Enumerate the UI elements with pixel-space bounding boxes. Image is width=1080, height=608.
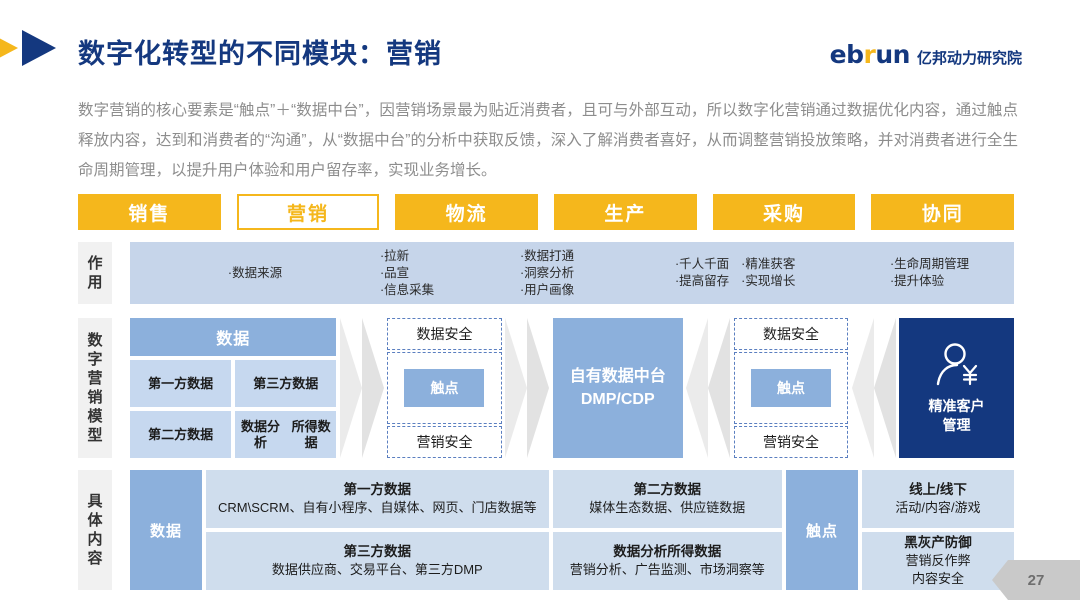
- page-title: 数字化转型的不同模块：营销: [78, 32, 442, 71]
- detail-touch-online-offline: 线上/线下 活动/内容/游戏: [862, 470, 1014, 528]
- row-label-detail: 具 体 内 容: [78, 470, 112, 590]
- chevron-right-1-icon: [336, 318, 387, 458]
- model-cell-third-party: 第三方数据: [235, 360, 336, 407]
- arrow-yellow-icon: [0, 30, 18, 66]
- detail-cell-first-party: 第一方数据 CRM\SCRM、自有小程序、自媒体、网页、门店数据等: [206, 470, 549, 528]
- tab-sales[interactable]: 销售: [78, 194, 221, 230]
- model-right-marketing-security: 营销安全: [734, 426, 849, 458]
- chevron-left-1-icon: [683, 318, 734, 458]
- detail-row-top: 第一方数据 CRM\SCRM、自有小程序、自媒体、网页、门店数据等 第二方数据 …: [206, 470, 782, 528]
- model-data-block: 数据 第一方数据 第三方数据 第二方数据 数据分析 所得数据: [130, 318, 336, 458]
- tab-procurement[interactable]: 采购: [713, 194, 856, 230]
- model-left-touchpoint-wrap: 触点: [387, 352, 502, 424]
- row-label-function: 作 用: [78, 242, 112, 304]
- detail-touchpoint-group: 触点 线上/线下 活动/内容/游戏 黑灰产防御 营销反作弊 内容安全: [786, 470, 1014, 590]
- model-customer-management: 精准客户 管理: [899, 318, 1014, 458]
- slide-root: 数字化转型的不同模块：营销 ebrun 亿邦动力研究院 数字营销的核心要素是“触…: [0, 0, 1080, 608]
- model-right-security-block: 数据安全 触点 营销安全: [734, 318, 849, 458]
- brand-logo: ebrun 亿邦动力研究院: [830, 40, 1022, 69]
- function-col-source: ·数据来源: [130, 265, 380, 282]
- row-label-model: 数 字 营 销 模 型: [78, 318, 112, 458]
- detail-row-bottom: 第三方数据 数据供应商、交易平台、第三方DMP 数据分析所得数据 营销分析、广告…: [206, 532, 782, 590]
- logo-wordmark: ebrun: [830, 40, 910, 69]
- row-model: 数 字 营 销 模 型 数据 第一方数据 第三方数据 第二方数据 数据分析 所得…: [78, 318, 1014, 458]
- arrow-navy-icon: [22, 30, 56, 66]
- intro-paragraph: 数字营销的核心要素是“触点”＋“数据中台”，因营销场景最为贴近消费者，且可与外部…: [78, 96, 1018, 186]
- header-arrow-mark: [0, 30, 70, 66]
- detail-cell-third-party: 第三方数据 数据供应商、交易平台、第三方DMP: [206, 532, 549, 590]
- detail-touchpoint-tag: 触点: [786, 470, 858, 590]
- tab-marketing[interactable]: 营销: [237, 194, 380, 230]
- model-right-data-security: 数据安全: [734, 318, 849, 350]
- detail-cell-second-party: 第二方数据 媒体生态数据、供应链数据: [553, 470, 782, 528]
- model-left-marketing-security: 营销安全: [387, 426, 502, 458]
- model-cell-analysis: 数据分析 所得数据: [235, 411, 336, 458]
- detail-touchpoint-stack: 线上/线下 活动/内容/游戏 黑灰产防御 营销反作弊 内容安全: [862, 470, 1014, 590]
- tab-collaboration[interactable]: 协同: [871, 194, 1014, 230]
- function-col-acquisition: ·拉新 ·品宣 ·信息采集: [380, 248, 520, 299]
- row-detail-body: 数据 第一方数据 CRM\SCRM、自有小程序、自媒体、网页、门店数据等 第二方…: [130, 470, 1014, 590]
- row-model-body: 数据 第一方数据 第三方数据 第二方数据 数据分析 所得数据: [130, 318, 1014, 458]
- page-number-badge: 27: [992, 560, 1080, 600]
- model-left-security-block: 数据安全 触点 营销安全: [387, 318, 502, 458]
- chevron-left-2-icon: [848, 318, 899, 458]
- model-left-data-security: 数据安全: [387, 318, 502, 350]
- function-col-analysis: ·数据打通 ·洞察分析 ·用户画像: [520, 248, 675, 299]
- model-right-touchpoint: 触点: [751, 369, 831, 407]
- tab-production[interactable]: 生产: [554, 194, 697, 230]
- detail-grid: 第一方数据 CRM\SCRM、自有小程序、自媒体、网页、门店数据等 第二方数据 …: [206, 470, 782, 590]
- row-detail: 具 体 内 容 数据 第一方数据 CRM\SCRM、自有小程序、自媒体、网页、门…: [78, 470, 1014, 590]
- row-function-body: ·数据来源 ·拉新 ·品宣 ·信息采集 ·数据打通 ·洞察分析 ·用户画像 ·千…: [130, 242, 1014, 304]
- module-tabs: 销售 营销 物流 生产 采购 协同: [78, 194, 1014, 230]
- model-data-header: 数据: [130, 318, 336, 356]
- model-data-grid: 第一方数据 第三方数据 第二方数据 数据分析 所得数据: [130, 360, 336, 458]
- model-cell-second-party: 第二方数据: [130, 411, 231, 458]
- logo-chinese-name: 亿邦动力研究院: [917, 47, 1022, 68]
- model-right-touchpoint-wrap: 触点: [734, 352, 849, 424]
- detail-touch-fraud-defense: 黑灰产防御 营销反作弊 内容安全: [862, 532, 1014, 590]
- detail-cell-analysis-data: 数据分析所得数据 营销分析、广告监测、市场洞察等: [553, 532, 782, 590]
- model-central-dmp: 自有数据中台 DMP/CDP: [553, 318, 683, 458]
- function-col-lifecycle: ·生命周期管理 ·提升体验: [890, 256, 1014, 290]
- detail-data-tag: 数据: [130, 470, 202, 590]
- row-function: 作 用 ·数据来源 ·拉新 ·品宣 ·信息采集 ·数据打通 ·洞察分析 ·用户画…: [78, 242, 1014, 304]
- function-col-growth: ·千人千面 ·精准获客 ·提高留存 ·实现增长: [675, 256, 890, 290]
- chevron-right-2-icon: [502, 318, 553, 458]
- tab-logistics[interactable]: 物流: [395, 194, 538, 230]
- person-yen-icon: [931, 342, 983, 393]
- slide-header: 数字化转型的不同模块：营销 ebrun 亿邦动力研究院: [0, 0, 1080, 88]
- model-cell-first-party: 第一方数据: [130, 360, 231, 407]
- model-left-touchpoint: 触点: [404, 369, 484, 407]
